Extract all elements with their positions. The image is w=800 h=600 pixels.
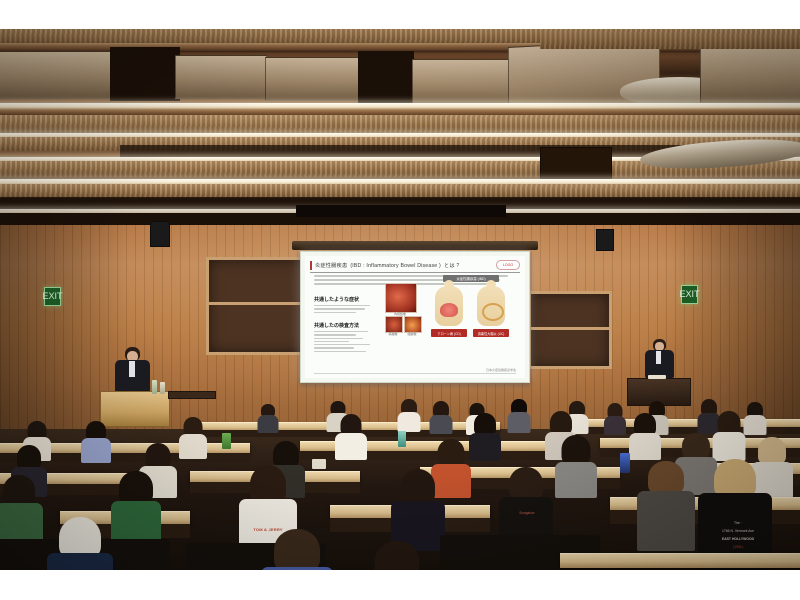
hoodie-graphic-line-1: Bungalow xyxy=(508,511,546,515)
student-hair xyxy=(119,471,153,505)
wall-speaker xyxy=(596,229,614,251)
student xyxy=(392,469,444,549)
hoodie-graphic-line-2: The · xyxy=(714,521,762,525)
presentation-slide: 炎症性腸疾患 (IBD : Inflammatory Bowel Disease… xyxy=(305,256,525,378)
student xyxy=(82,421,110,461)
exit-sign-left: EXIT xyxy=(44,287,61,306)
student-torso xyxy=(555,462,597,498)
student xyxy=(470,413,500,459)
papers xyxy=(648,375,666,379)
wall-speaker xyxy=(150,221,170,247)
disease-label-crohn: クローン病 (CD) xyxy=(431,329,467,337)
duct-panel xyxy=(0,51,112,99)
organization-logo: LOGO xyxy=(496,260,520,270)
text-line xyxy=(314,305,370,306)
duct-insulation xyxy=(0,184,800,198)
hoodie-graphic-line-5: (1991) xyxy=(718,545,758,549)
hoodie-graphic-line-4: EAST HOLLYWOOD xyxy=(708,537,768,541)
student xyxy=(180,417,206,457)
body-head xyxy=(486,280,496,289)
screenshot-frame: EXIT EXIT 炎症性腸疾患 (IBD : Inflammatory Bow… xyxy=(0,0,800,600)
duct-insulation xyxy=(0,115,800,133)
text-line xyxy=(314,347,354,348)
student-torso xyxy=(469,433,501,461)
student-torso xyxy=(744,415,767,435)
student-torso xyxy=(398,412,421,432)
text-line xyxy=(314,351,366,352)
side-table xyxy=(168,391,216,399)
student-hair xyxy=(375,541,419,570)
hoodie-graphic-line-3: 1766 N. Vermont Ave xyxy=(708,529,768,533)
student xyxy=(638,461,694,551)
student-torso xyxy=(258,415,279,433)
student-torso xyxy=(430,415,453,434)
blackboard-right xyxy=(528,291,612,369)
student-torso xyxy=(179,434,207,459)
student-torso xyxy=(81,438,111,463)
student xyxy=(556,435,596,497)
duct-insulation xyxy=(540,29,800,49)
intestine-highlight-colitis xyxy=(482,303,504,321)
student-torso xyxy=(508,412,531,433)
slide-footer-rule xyxy=(314,373,516,374)
student-hair xyxy=(274,529,320,570)
student xyxy=(364,541,430,570)
student-torso xyxy=(713,432,746,461)
title-bar-accent xyxy=(310,261,312,270)
student xyxy=(630,413,660,458)
notebook xyxy=(312,459,326,469)
student-hair xyxy=(438,439,465,467)
slide-title-suffix: とは ? xyxy=(444,262,460,269)
body-silhouette-colitis xyxy=(477,286,505,326)
duct-panel xyxy=(700,45,800,105)
text-line xyxy=(314,338,363,339)
intestine-highlight-crohn xyxy=(440,303,458,317)
drink-bottle xyxy=(620,453,630,473)
student-hair xyxy=(648,461,684,495)
student-torso xyxy=(335,433,367,460)
histology-caption-right: 組織像 xyxy=(404,332,420,336)
student xyxy=(604,403,625,433)
ceiling-shadow xyxy=(358,51,414,103)
text-line xyxy=(314,312,356,313)
water-bottle xyxy=(152,380,157,394)
desk-row-foreground xyxy=(560,553,800,568)
text-line xyxy=(314,334,356,335)
lecture-hall-photo: EXIT EXIT 炎症性腸疾患 (IBD : Inflammatory Bow… xyxy=(0,29,800,570)
water-bottle xyxy=(160,382,165,394)
student xyxy=(112,471,160,545)
drink-bottle xyxy=(398,431,406,447)
duct-panel xyxy=(412,59,514,107)
student-hair xyxy=(682,433,710,459)
duct-panel xyxy=(175,55,267,99)
text-line xyxy=(314,331,368,332)
letterbox-top xyxy=(0,0,800,29)
slide-footer-text: 日本炎症性腸疾患学会 xyxy=(486,368,516,372)
letterbox-bottom xyxy=(0,570,800,600)
slide-section-heading-1: 共通したような症状 xyxy=(314,296,359,303)
slide-title-row: 炎症性腸疾患 (IBD : Inflammatory Bowel Disease… xyxy=(310,259,520,273)
text-line xyxy=(314,344,370,345)
student xyxy=(262,529,332,570)
student-torso xyxy=(47,553,113,570)
histology-image-right xyxy=(404,316,422,333)
podium xyxy=(100,391,170,427)
student-torso xyxy=(629,433,661,460)
student xyxy=(336,414,366,458)
slide-title-paren: (IBD : Inflammatory Bowel Disease ) xyxy=(350,263,441,269)
student-hair xyxy=(562,435,591,465)
slide-section-heading-2: 共通したの検査方法 xyxy=(314,322,359,329)
ceiling-shadow xyxy=(110,47,180,101)
student-torso xyxy=(637,491,695,551)
disease-label-colitis: 潰瘍性大腸炎 (UC) xyxy=(473,329,509,337)
body-silhouette-crohn xyxy=(435,286,463,326)
slide-title-main: 炎症性腸疾患 xyxy=(315,262,347,269)
endoscopy-image-large xyxy=(385,283,417,313)
student-hair xyxy=(401,469,435,505)
slide-section-body-1 xyxy=(314,305,372,315)
student-hair xyxy=(273,441,299,468)
student xyxy=(714,411,744,458)
duct-panel xyxy=(265,57,362,101)
text-line xyxy=(314,341,349,342)
student xyxy=(430,401,452,432)
exit-sign-right: EXIT xyxy=(681,285,698,304)
student xyxy=(48,517,112,570)
student xyxy=(508,399,530,432)
presenter-shirt xyxy=(129,361,135,377)
student xyxy=(398,399,420,431)
student xyxy=(258,404,278,432)
drink-bottle xyxy=(222,433,231,449)
projector-mount xyxy=(296,205,506,217)
projection-screen: 炎症性腸疾患 (IBD : Inflammatory Bowel Disease… xyxy=(300,251,530,383)
ceiling xyxy=(0,29,800,229)
student xyxy=(0,475,42,545)
blackboard-divider xyxy=(531,327,609,330)
histology-image-left xyxy=(385,316,403,333)
ceiling-equipment xyxy=(540,147,612,179)
assistant-shirt xyxy=(656,351,661,364)
text-line xyxy=(314,308,365,309)
screen-rail xyxy=(292,241,538,250)
histology-caption-left: 病理像 xyxy=(385,332,401,336)
student-torso xyxy=(604,416,626,435)
body-head xyxy=(444,280,454,289)
body-diagram-panel: 炎症性腸疾患 (IBD) クローン病 (CD) 潰瘍性大腸炎 (UC) xyxy=(429,275,513,337)
student xyxy=(744,402,766,433)
student-hair xyxy=(509,467,543,501)
slide-section-body-2 xyxy=(314,331,374,354)
